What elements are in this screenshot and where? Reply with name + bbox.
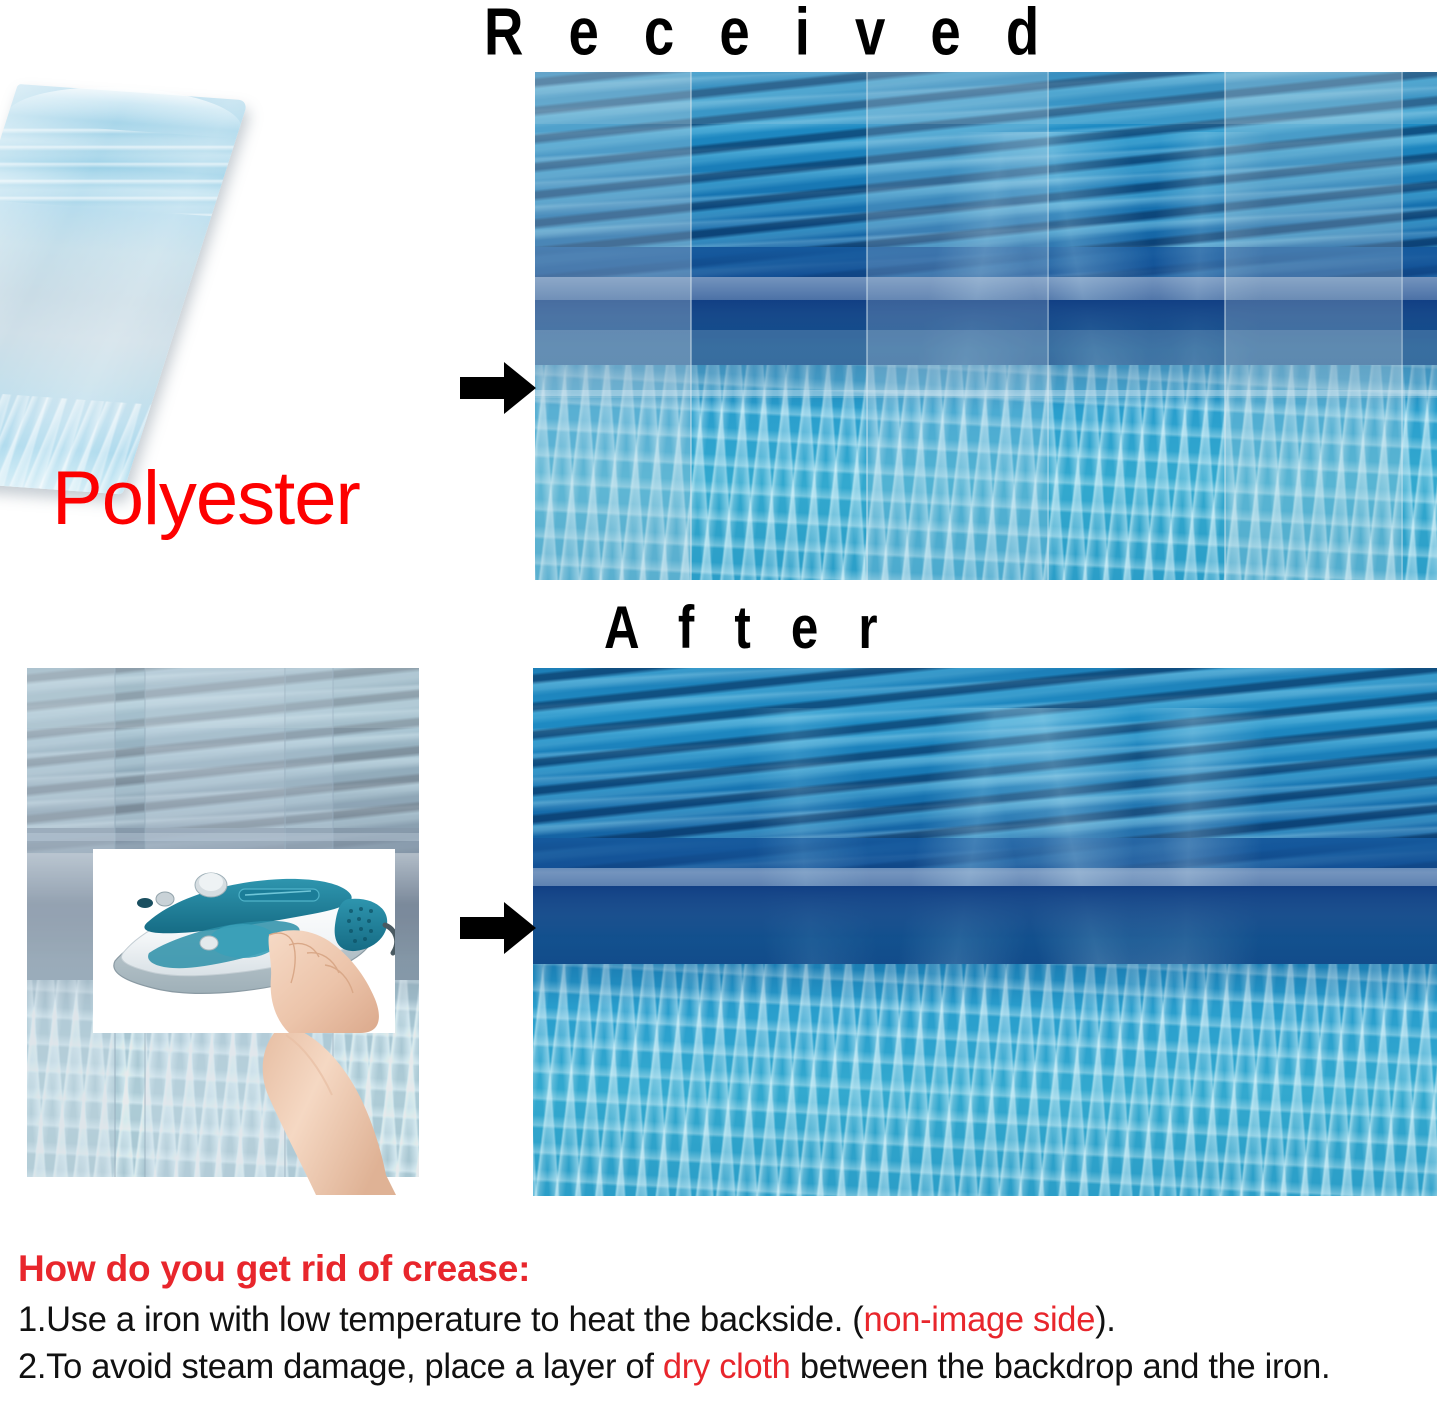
instruction-1-post: ). (1095, 1300, 1115, 1339)
after-heading: A f t e r (604, 592, 891, 662)
underwater-scene (535, 72, 1437, 580)
folded-polyester-backdrop-swatch (18, 84, 413, 484)
received-heading: R e c e i v e d (484, 0, 1054, 71)
steam-iron-in-hand (93, 849, 395, 1033)
after-underwater-backdrop (533, 668, 1437, 1196)
instructions-block: How do you get rid of crease: 1.Use a ir… (18, 1248, 1428, 1391)
instruction-2-post: between the backdrop and the iron. (791, 1347, 1331, 1386)
instruction-1-pre: 1.Use a iron with low temperature to hea… (18, 1300, 863, 1339)
underwater-scene (533, 668, 1437, 1196)
right-arrow-icon (460, 362, 536, 419)
arm-skin (263, 1025, 396, 1195)
instructions-heading: How do you get rid of crease: (18, 1248, 1428, 1290)
floor-blend (535, 300, 1437, 410)
instruction-1-highlight: non-image side (863, 1300, 1095, 1339)
polyester-material-label: Polyester (52, 455, 360, 542)
instruction-2-pre: 2.To avoid steam damage, place a layer o… (18, 1347, 663, 1386)
forearm (246, 1025, 396, 1195)
instruction-2-highlight: dry cloth (663, 1347, 791, 1386)
instruction-line-2: 2.To avoid steam damage, place a layer o… (18, 1344, 1407, 1391)
instruction-line-1: 1.Use a iron with low temperature to hea… (18, 1297, 1407, 1344)
swatch-fabric (0, 84, 248, 494)
right-arrow-icon (460, 902, 536, 959)
received-underwater-backdrop (535, 72, 1437, 580)
floor-blend (533, 886, 1437, 1006)
